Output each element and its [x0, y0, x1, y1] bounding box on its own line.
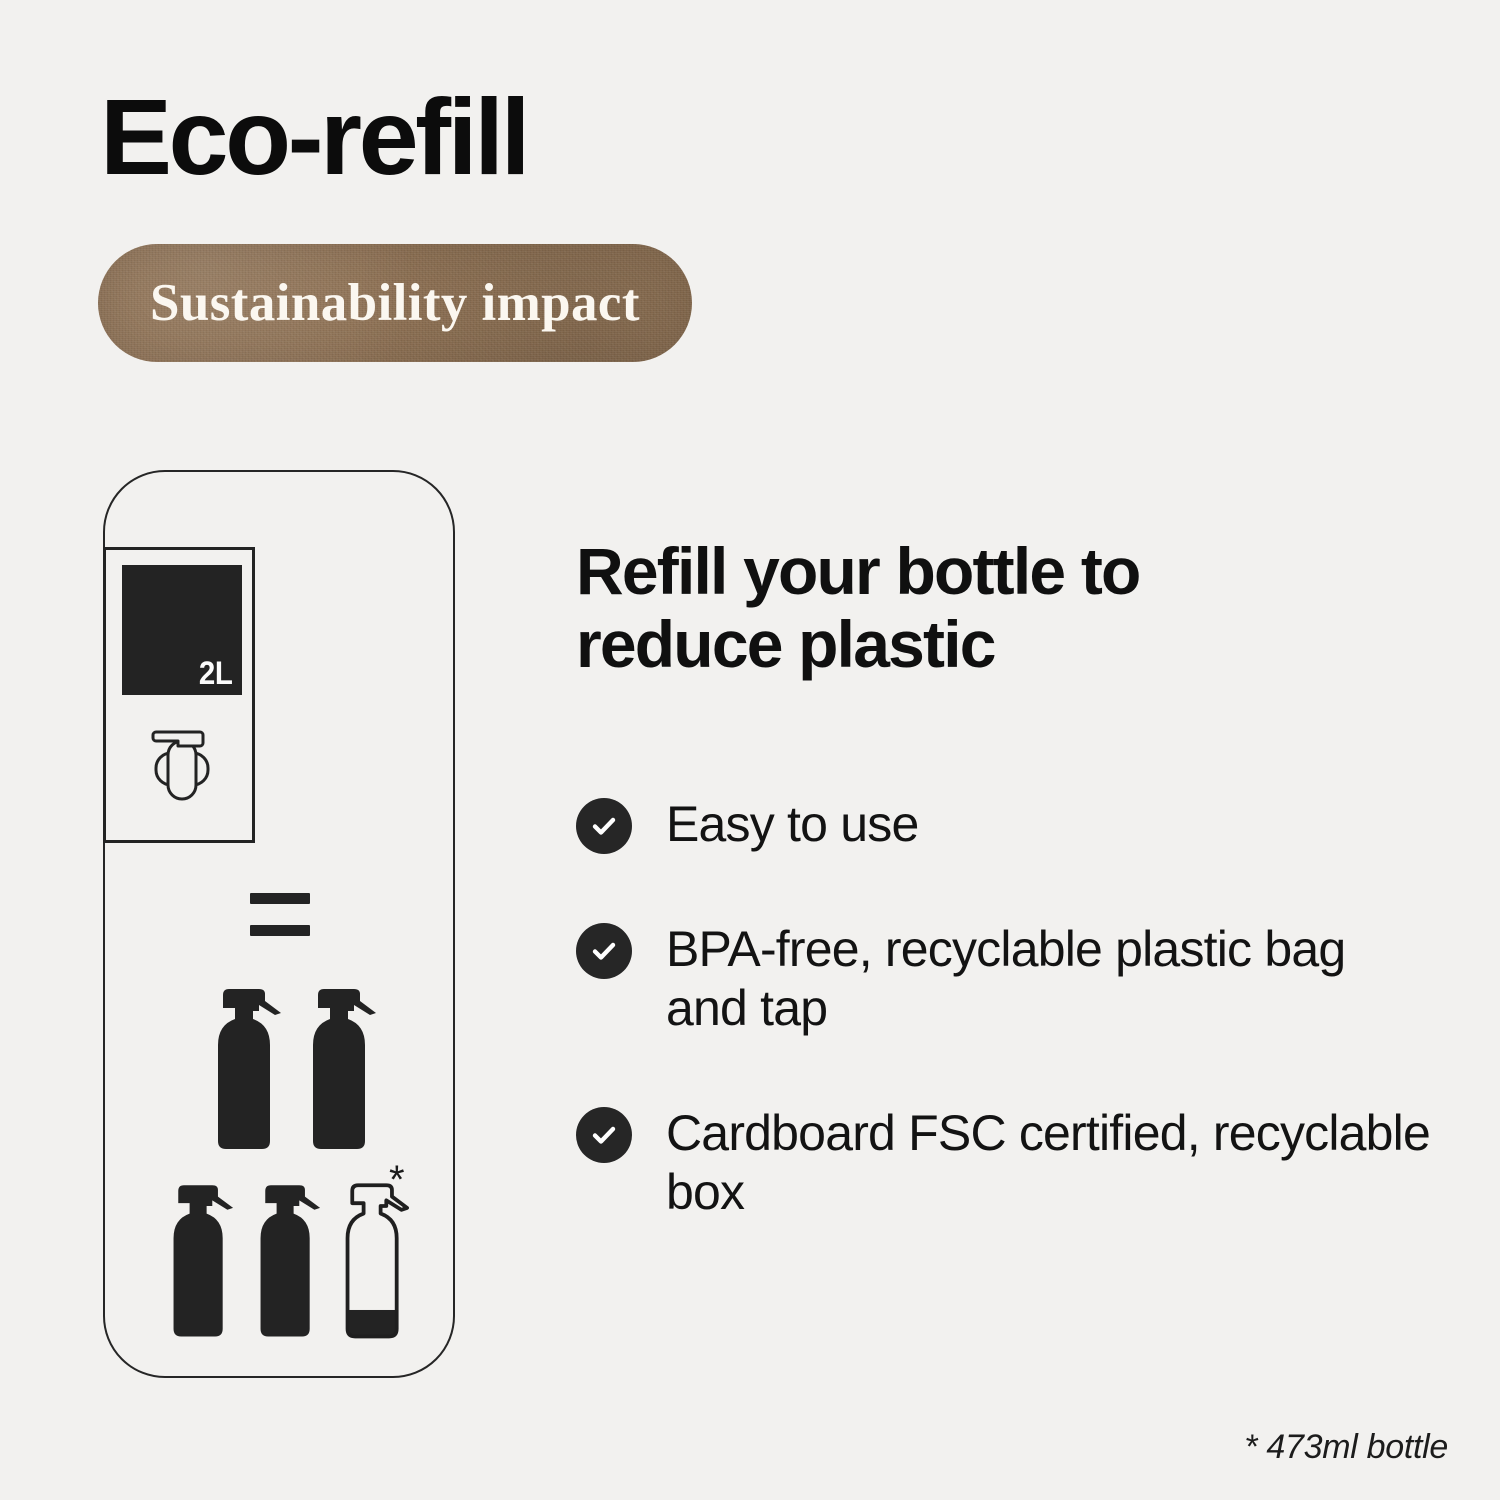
check-icon: [576, 923, 632, 979]
spray-bottles-top-row: [207, 975, 380, 1157]
check-icon: [576, 1107, 632, 1163]
benefit-label: Cardboard FSC certified, recyclable box: [666, 1104, 1436, 1222]
list-item: Cardboard FSC certified, recyclable box: [576, 1104, 1436, 1222]
list-item: Easy to use: [576, 795, 1436, 854]
benefit-label: Easy to use: [666, 795, 918, 854]
asterisk-marker: *: [389, 1160, 405, 1200]
spray-bottles-bottom-row: [163, 1172, 411, 1344]
tap-icon: [142, 714, 222, 806]
equals-bar-top: [250, 893, 310, 904]
refill-pouch-graphic: 2L: [122, 565, 242, 695]
list-item: BPA-free, recyclable plastic bag and tap: [576, 920, 1436, 1038]
spray-bottle-icon: [163, 1172, 237, 1344]
section-headline: Refill your bottle to reduce plastic: [576, 535, 1336, 682]
status-badge: Sustainability impact: [98, 244, 692, 362]
equals-bar-bottom: [250, 925, 310, 936]
benefit-label: BPA-free, recyclable plastic bag and tap: [666, 920, 1436, 1038]
footnote: * 473ml bottle: [1244, 1428, 1448, 1467]
status-badge-label: Sustainability impact: [150, 273, 640, 333]
benefits-list: Easy to use BPA-free, recyclable plastic…: [576, 795, 1436, 1222]
spray-bottle-icon: [302, 975, 380, 1157]
check-icon: [576, 798, 632, 854]
page-title: Eco-refill: [100, 82, 527, 192]
refill-box-illustration: 2L: [103, 547, 255, 843]
spray-bottle-icon: [250, 1172, 324, 1344]
eco-refill-infographic: Eco-refill Sustainability impact 2L: [0, 0, 1500, 1500]
pouch-volume-label: 2L: [199, 657, 232, 689]
spray-bottle-icon: [207, 975, 285, 1157]
equals-symbol: [250, 893, 310, 936]
